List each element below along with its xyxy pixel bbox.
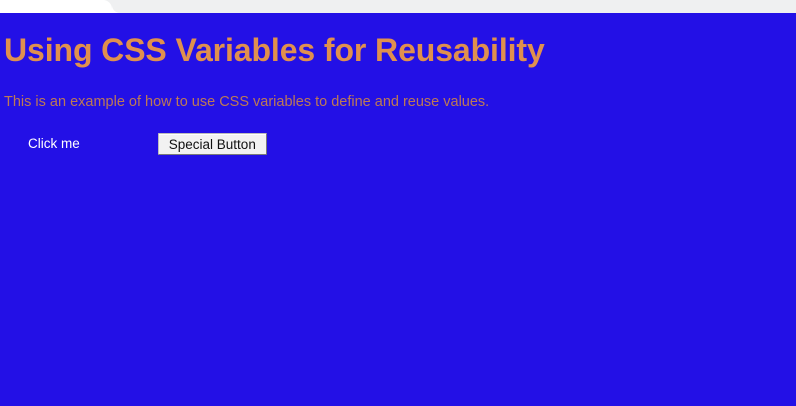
page-title: Using CSS Variables for Reusability	[4, 32, 545, 68]
button-row: Click me Special Button	[16, 133, 267, 157]
page-description: This is an example of how to use CSS var…	[4, 93, 489, 111]
special-button[interactable]: Special Button	[158, 133, 267, 155]
page-content-area: Using CSS Variables for Reusability This…	[0, 13, 796, 406]
browser-chrome-strip	[0, 0, 796, 13]
click-me-button[interactable]: Click me	[16, 133, 92, 155]
browser-tab[interactable]	[0, 0, 112, 13]
